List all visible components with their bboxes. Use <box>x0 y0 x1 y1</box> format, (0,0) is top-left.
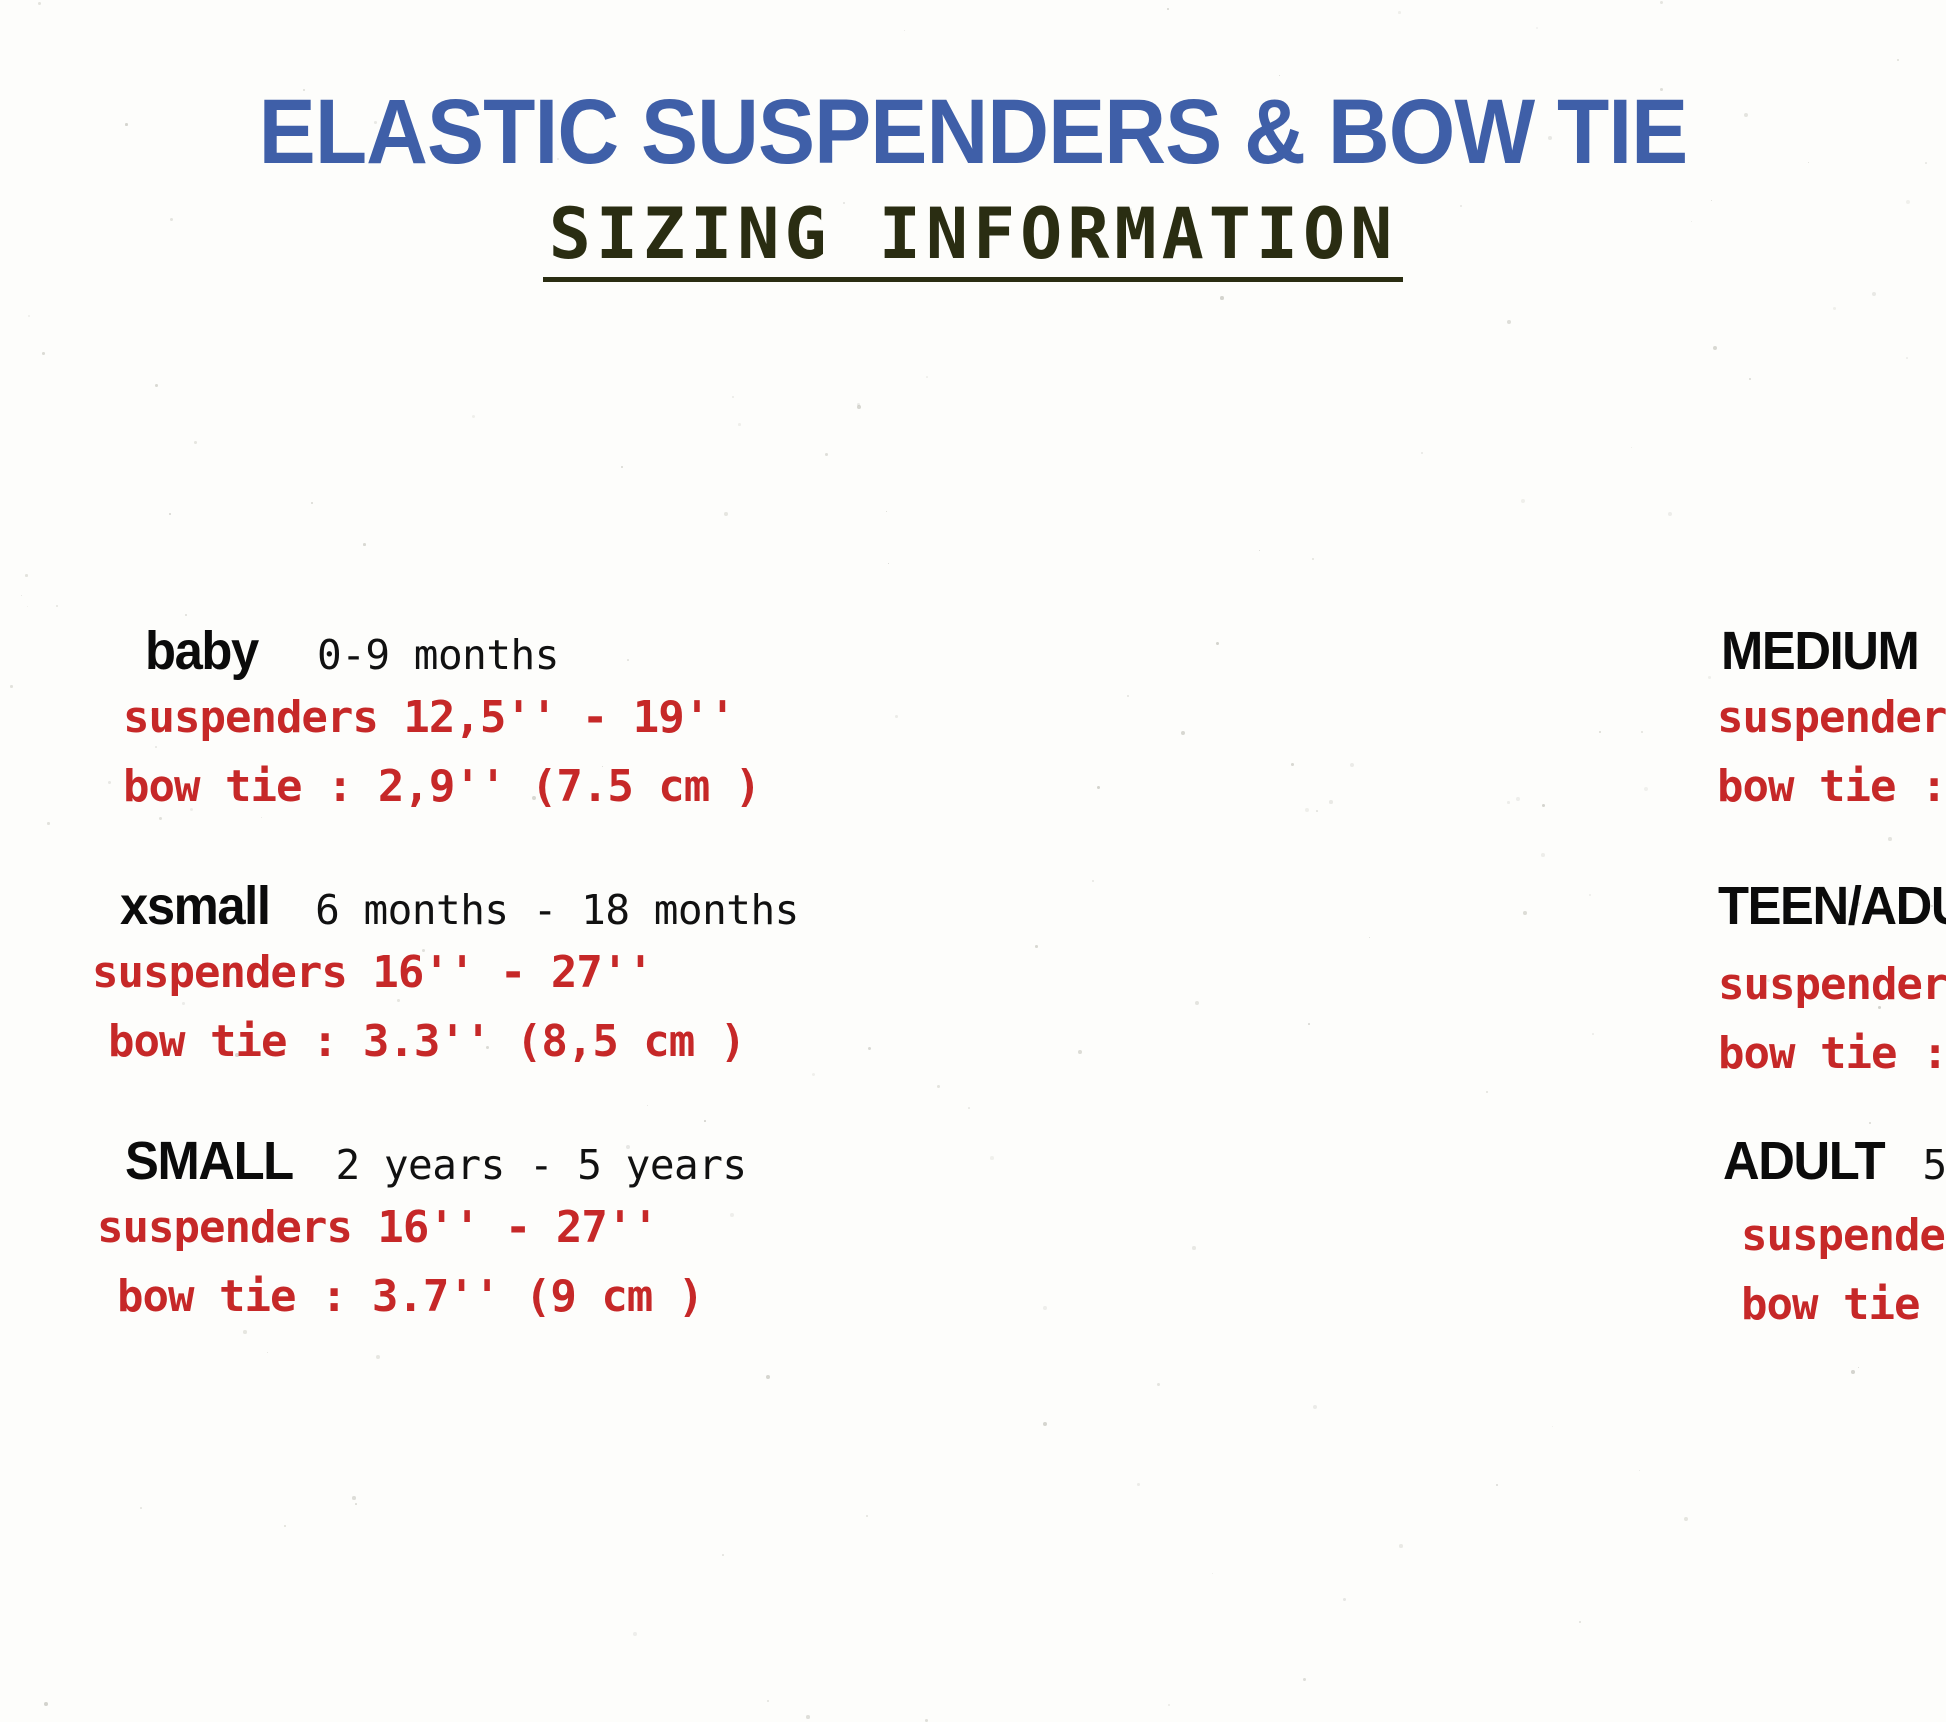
size-name: MEDIUM <box>1721 620 1918 682</box>
size-card-header: ADULT 5'7 ft and over <box>1723 1130 1916 1192</box>
subtitle-block: SIZING INFORMATION <box>0 198 1946 283</box>
size-card-header: TEEN/ADULT up to 5'6 ft <box>1718 875 1916 937</box>
page-title: ELASTIC SUSPENDERS & BOW TIE <box>68 86 1878 180</box>
size-name: ADULT <box>1723 1130 1884 1192</box>
size-card-header: xsmall 6 months - 18 months <box>120 875 943 937</box>
size-age-range: 6 months - 18 months <box>315 886 799 934</box>
suspenders-spec: suspenders 19'' - 33'' <box>1717 692 1916 743</box>
size-name: SMALL <box>125 1130 293 1192</box>
size-age-range: 5'7 ft and over <box>1922 1141 1946 1189</box>
size-grid: baby 0-9 months suspenders 12,5'' - 19''… <box>0 620 1946 1385</box>
suspenders-spec: suspenders 25,5'' - 40'' <box>1718 959 1916 1010</box>
bow-tie-spec: bow tie : 4,7 inches (12 cm ) <box>1741 1279 1916 1330</box>
sizing-chart-sheet: ELASTIC SUSPENDERS & BOW TIE SIZING INFO… <box>0 0 1946 1721</box>
size-card-small: SMALL 2 years - 5 years suspenders 16'' … <box>0 1130 973 1385</box>
size-card-header: SMALL 2 years - 5 years <box>125 1130 943 1192</box>
size-name: baby <box>145 620 258 682</box>
size-card-teen-adult: TEEN/ADULT up to 5'6 ft suspenders 25,5'… <box>973 875 1946 1130</box>
size-card-baby: baby 0-9 months suspenders 12,5'' - 19''… <box>0 620 973 875</box>
bow-tie-spec: bow tie : 3.7'' (9 cm ) <box>117 1271 943 1322</box>
bow-tie-spec: bow tie : 3.3'' (8,5 cm ) <box>108 1016 943 1067</box>
size-age-range: 2 years - 5 years <box>335 1141 746 1189</box>
suspenders-spec: suspenders 12,5'' - 19'' <box>123 692 943 743</box>
bow-tie-spec: bow tie : 4,3 inches (11 cm ) <box>1718 1028 1916 1079</box>
size-card-medium: MEDIUM 5 years - 10 years suspenders 19'… <box>973 620 1946 875</box>
suspenders-spec: suspenders 16'' - 27'' <box>97 1202 943 1253</box>
suspenders-spec: suspenders 31'' - 53'' <box>1741 1210 1916 1261</box>
bow-tie-spec: bow tie : 2,9'' (7.5 cm ) <box>123 761 943 812</box>
size-card-header: baby 0-9 months <box>145 620 943 682</box>
size-card-xsmall: xsmall 6 months - 18 months suspenders 1… <box>0 875 973 1130</box>
size-card-header: MEDIUM 5 years - 10 years <box>1721 620 1916 682</box>
size-age-range: 0-9 months <box>317 631 559 679</box>
size-card-adult: ADULT 5'7 ft and over suspenders 31'' - … <box>973 1130 1946 1385</box>
suspenders-spec: suspenders 16'' - 27'' <box>92 947 943 998</box>
size-name: xsmall <box>120 875 270 937</box>
bow-tie-spec: bow tie : 4 inches (10,5 cm ) <box>1717 761 1916 812</box>
size-name: TEEN/ADULT <box>1718 875 1946 937</box>
page-subtitle: SIZING INFORMATION <box>543 198 1404 283</box>
header-block: ELASTIC SUSPENDERS & BOW TIE SIZING INFO… <box>0 0 1946 282</box>
